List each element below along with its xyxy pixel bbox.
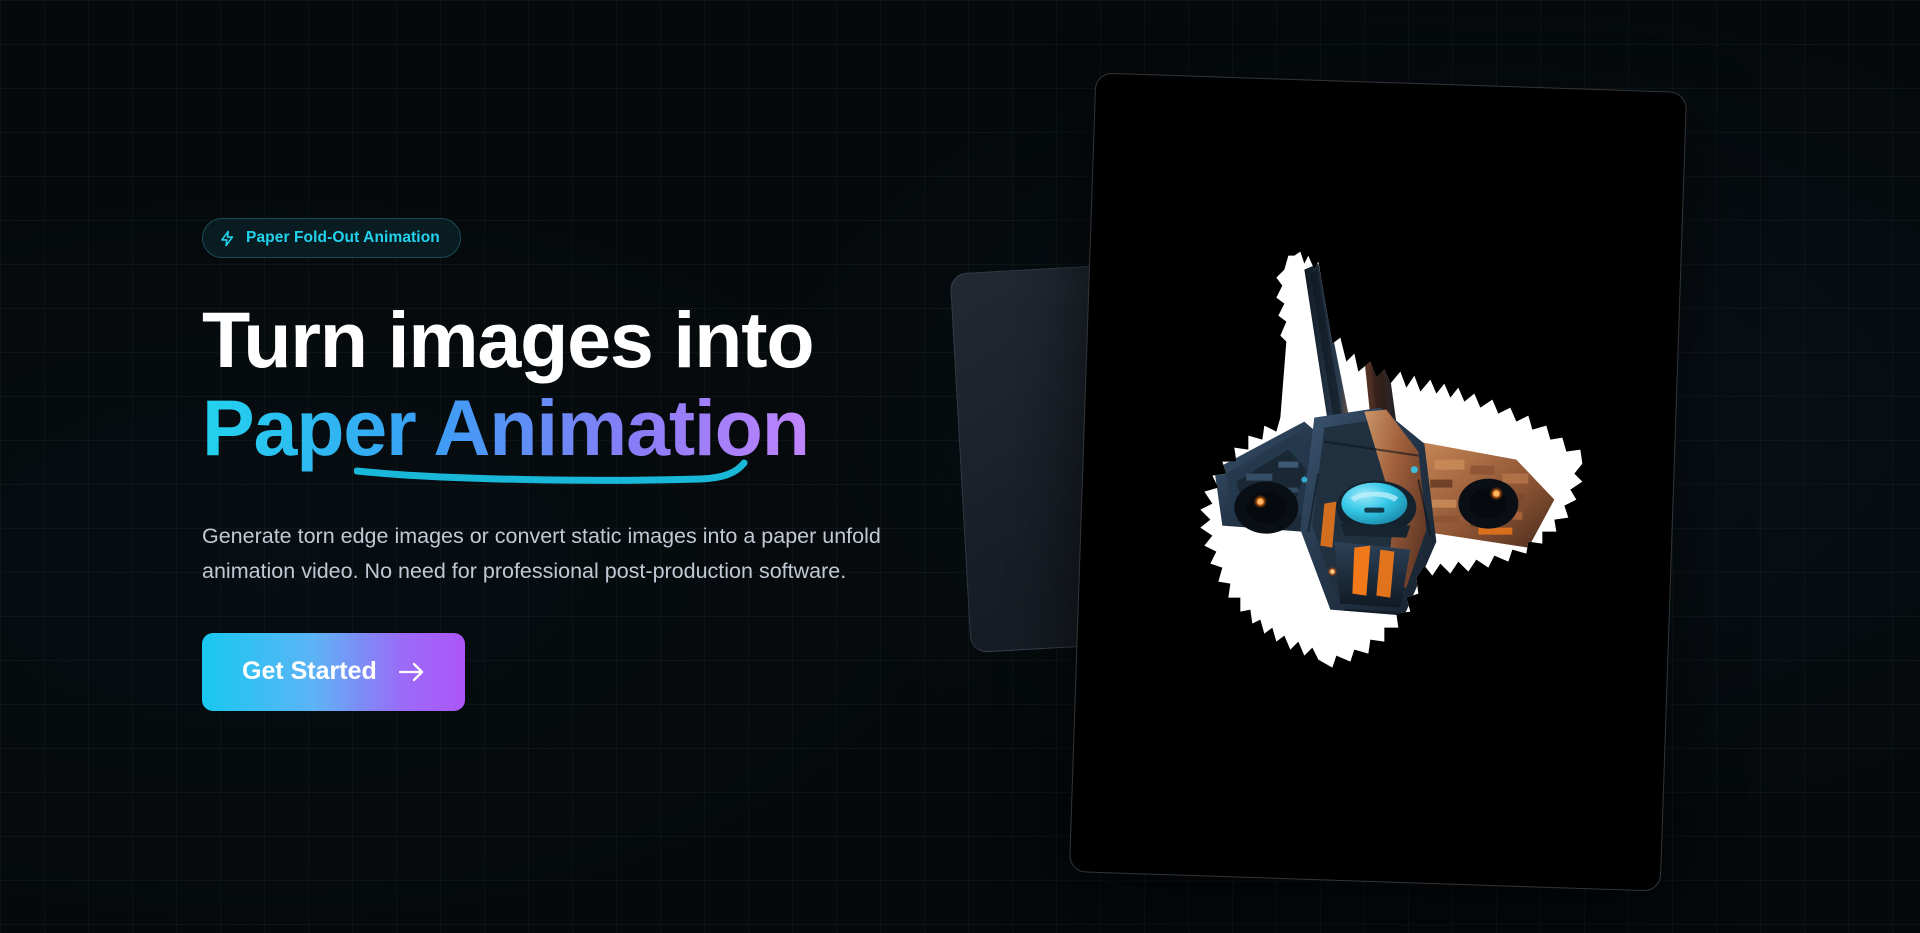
showcase-card-stack xyxy=(952,60,1652,910)
artwork-card[interactable] xyxy=(1069,72,1687,891)
get-started-button[interactable]: Get Started xyxy=(202,633,465,711)
feature-badge[interactable]: Paper Fold-Out Animation xyxy=(202,218,461,258)
arrow-right-icon xyxy=(399,661,425,683)
get-started-label: Get Started xyxy=(242,657,377,686)
hero-description: Generate torn edge images or convert sta… xyxy=(202,519,944,589)
headline-line-1: Turn images into xyxy=(202,296,982,384)
page-title: Turn images into Paper Animation xyxy=(202,296,982,473)
zap-icon xyxy=(219,230,236,247)
hero-section: Paper Fold-Out Animation Turn images int… xyxy=(0,0,1920,933)
headline-line-2-wrap: Paper Animation xyxy=(202,384,809,472)
torn-edge-spacecraft-artwork xyxy=(1118,212,1638,732)
hero-content: Paper Fold-Out Animation Turn images int… xyxy=(202,218,982,711)
headline-line-2: Paper Animation xyxy=(202,384,809,472)
feature-badge-label: Paper Fold-Out Animation xyxy=(246,229,440,247)
